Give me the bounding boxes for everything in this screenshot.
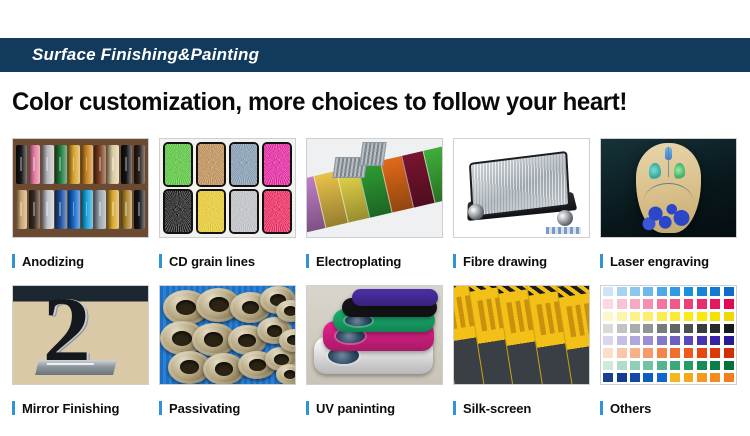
thumbnail-others [600,285,737,385]
caption-label: Mirror Finishing [22,401,119,416]
caption-label: Others [610,401,651,416]
thumbnail-uv-painting [306,285,443,385]
grid-item-mirror-finishing[interactable]: 2 Mirror Finishing [12,285,149,423]
banner-title: Surface Finishing&Painting [32,45,259,65]
thumbnail-anodizing [12,138,149,238]
grid-item-fibre-drawing[interactable]: Fibre drawing [453,138,590,276]
caption-laser-engraving: Laser engraving [600,238,737,276]
grid-item-anodizing[interactable]: Anodizing [12,138,149,276]
grid-item-cd-grain-lines[interactable]: CD grain lines [159,138,296,276]
accent-bar-icon [306,254,309,268]
caption-electroplating: Electroplating [306,238,443,276]
accent-bar-icon [159,254,162,268]
accent-bar-icon [12,254,15,268]
grid-item-silk-screen[interactable]: Silk-screen [453,285,590,423]
silk-screen-panels-icon [454,286,589,384]
accent-bar-icon [453,254,456,268]
caption-uv-painting: UV paninting [306,385,443,423]
caption-label: CD grain lines [169,254,255,269]
caption-label: Fibre drawing [463,254,547,269]
caption-label: Silk-screen [463,401,531,416]
caption-label: Electroplating [316,254,401,269]
thumbnail-passivating [159,285,296,385]
thumbnail-silk-screen [453,285,590,385]
caption-label: UV paninting [316,401,395,416]
caption-others: Others [600,385,737,423]
caption-passivating: Passivating [159,385,296,423]
anodized-cylinders-icon [13,139,148,237]
grid-item-laser-engraving[interactable]: Laser engraving [600,138,737,276]
promo-page: Surface Finishing&Painting Color customi… [0,0,750,436]
caption-label: Anodizing [22,254,84,269]
cd-grain-phone-cases-icon [160,139,295,237]
color-swatch-chart-icon [601,286,736,384]
accent-bar-icon [12,401,15,415]
thumbnail-laser-engraving [600,138,737,238]
grid-item-others[interactable]: Others [600,285,737,423]
caption-mirror-finishing: Mirror Finishing [12,385,149,423]
brushed-metal-laptop-icon [454,139,589,237]
caption-cd-grain-lines: CD grain lines [159,238,296,276]
grid-item-electroplating[interactable]: Electroplating [306,138,443,276]
thumbnail-fibre-drawing [453,138,590,238]
caption-fibre-drawing: Fibre drawing [453,238,590,276]
caption-silk-screen: Silk-screen [453,385,590,423]
accent-bar-icon [600,401,603,415]
thumbnail-electroplating [306,138,443,238]
accent-bar-icon [453,401,456,415]
electroplated-blocks-icon [307,139,442,237]
grid-item-passivating[interactable]: Passivating [159,285,296,423]
uv-painted-cases-icon [307,286,442,384]
thumbnail-mirror-finishing: 2 [12,285,149,385]
grid-item-uv-painting[interactable]: UV paninting [306,285,443,423]
page-headline: Color customization, more choices to fol… [12,88,709,117]
caption-label: Passivating [169,401,240,416]
section-banner: Surface Finishing&Painting [0,38,750,72]
accent-bar-icon [306,401,309,415]
caption-anodizing: Anodizing [12,238,149,276]
accent-bar-icon [159,401,162,415]
mirror-polished-numeral-icon: 2 [13,286,148,384]
engraved-mouse-icon [601,139,736,237]
passivated-rings-icon [160,286,295,384]
thumbnail-cd-grain-lines [159,138,296,238]
caption-label: Laser engraving [610,254,709,269]
finish-grid: Anodizing CD grain lines [12,138,738,423]
accent-bar-icon [600,254,603,268]
